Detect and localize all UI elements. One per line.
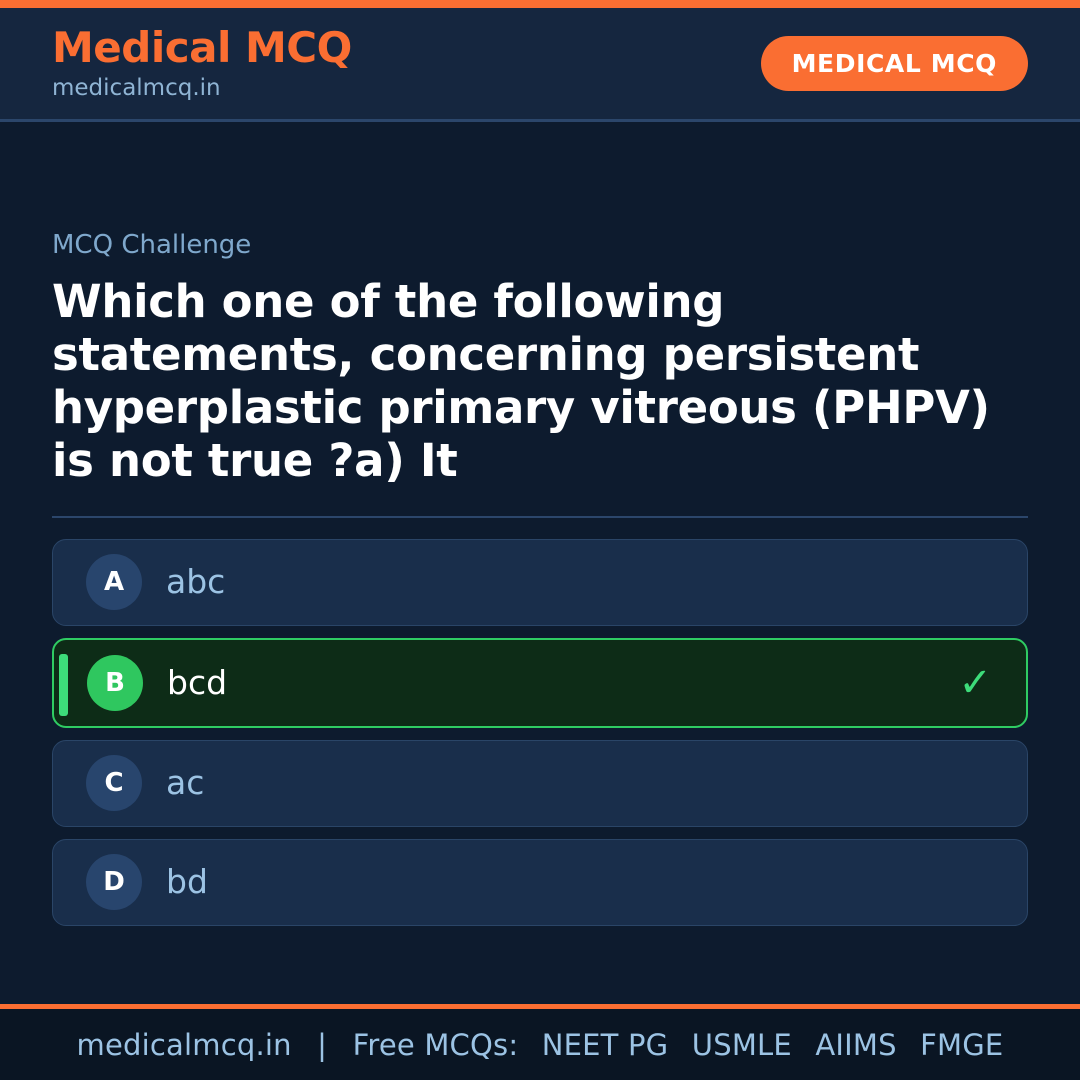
options-list: A abc B bcd ✓ C ac D bd	[52, 539, 1028, 926]
page-header: Medical MCQ medicalmcq.in MEDICAL MCQ	[0, 8, 1080, 122]
header-badge: MEDICAL MCQ	[761, 36, 1028, 91]
top-accent-bar	[0, 0, 1080, 8]
question-text: Which one of the following statements, c…	[52, 275, 1028, 487]
brand-subtitle: medicalmcq.in	[52, 76, 352, 101]
eyebrow-label: MCQ Challenge	[52, 230, 1028, 261]
footer-label: Free MCQs:	[353, 1028, 519, 1062]
footer-tag-usmle: USMLE	[678, 1028, 792, 1062]
check-icon: ✓	[958, 663, 992, 703]
footer-tag-neetpg: NEET PG	[528, 1028, 669, 1062]
footer-separator: |	[301, 1028, 343, 1062]
option-letter-badge: A	[86, 554, 142, 610]
footer-tag-fmge: FMGE	[906, 1028, 1003, 1062]
question-divider	[52, 516, 1028, 518]
footer-text: medicalmcq.in | Free MCQs: NEET PG USMLE…	[77, 1028, 1004, 1062]
page-footer: medicalmcq.in | Free MCQs: NEET PG USMLE…	[0, 1009, 1080, 1080]
option-row-c[interactable]: C ac	[52, 740, 1028, 827]
footer-tag-aiims: AIIMS	[801, 1028, 896, 1062]
mcq-card: Medical MCQ medicalmcq.in MEDICAL MCQ MC…	[0, 0, 1080, 1080]
option-text: ac	[166, 763, 204, 803]
selected-accent-bar	[59, 654, 68, 716]
brand-title: Medical MCQ	[52, 26, 352, 70]
option-row-a[interactable]: A abc	[52, 539, 1028, 626]
brand: Medical MCQ medicalmcq.in	[52, 26, 352, 101]
option-row-b[interactable]: B bcd ✓	[52, 638, 1028, 728]
option-letter-badge: C	[86, 755, 142, 811]
question-area: MCQ Challenge Which one of the following…	[0, 122, 1080, 1004]
option-letter-badge: B	[87, 655, 143, 711]
option-text: bcd	[167, 663, 227, 703]
option-text: abc	[166, 562, 225, 602]
option-text: bd	[166, 862, 208, 902]
option-letter-badge: D	[86, 854, 142, 910]
option-row-d[interactable]: D bd	[52, 839, 1028, 926]
footer-site: medicalmcq.in	[77, 1028, 292, 1062]
